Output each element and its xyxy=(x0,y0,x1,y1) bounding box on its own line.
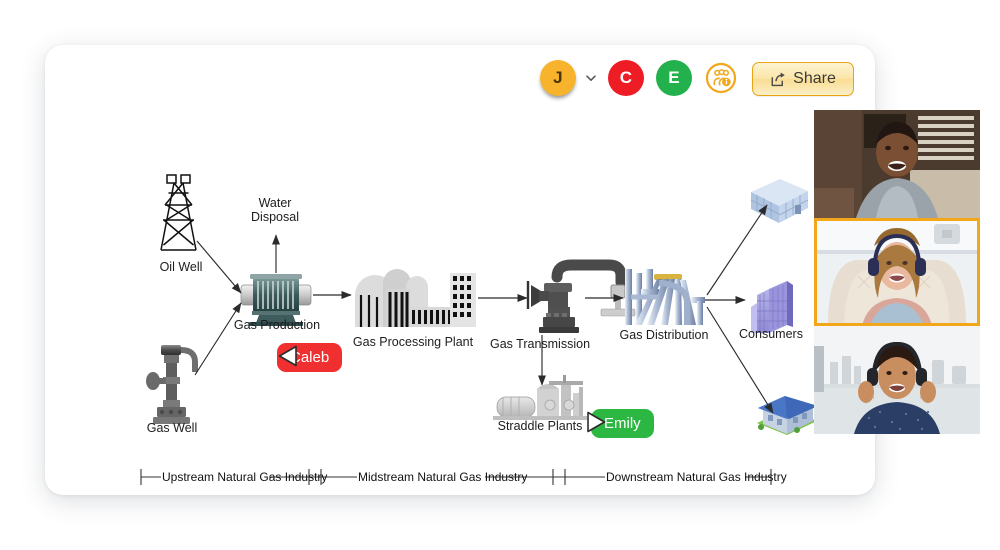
whiteboard-diagram[interactable]: Oil Well Gas Well Water Disposal Gas Pro… xyxy=(45,45,875,495)
video-tile-3[interactable] xyxy=(814,326,980,434)
label-gas-production: Gas Production xyxy=(221,318,333,332)
video-tile-2[interactable] xyxy=(814,218,980,326)
segment-label-midstream: Midstream Natural Gas Industry xyxy=(358,470,527,484)
meeting-card: J C E xyxy=(45,45,875,495)
label-gas-processing-plant: Gas Processing Plant xyxy=(341,335,485,349)
label-gas-transmission: Gas Transmission xyxy=(473,337,607,351)
label-water-disposal-line2: Disposal xyxy=(241,210,309,224)
screen-root: J C E xyxy=(0,0,1000,550)
segment-label-downstream: Downstream Natural Gas Industry xyxy=(606,470,787,484)
segment-label-upstream: Upstream Natural Gas Industry xyxy=(162,470,327,484)
label-water-disposal-line1: Water xyxy=(241,196,309,210)
label-gas-well: Gas Well xyxy=(140,421,204,435)
label-oil-well: Oil Well xyxy=(150,260,212,274)
label-straddle-plants: Straddle Plants xyxy=(478,419,602,433)
label-consumers: Consumers xyxy=(729,327,813,341)
cursor-caleb[interactable]: Caleb xyxy=(277,343,348,372)
cursor-emily[interactable]: Emily xyxy=(585,409,654,438)
video-tile-strip xyxy=(814,110,980,440)
label-gas-distribution: Gas Distribution xyxy=(599,328,729,342)
video-tile-1[interactable] xyxy=(814,110,980,218)
